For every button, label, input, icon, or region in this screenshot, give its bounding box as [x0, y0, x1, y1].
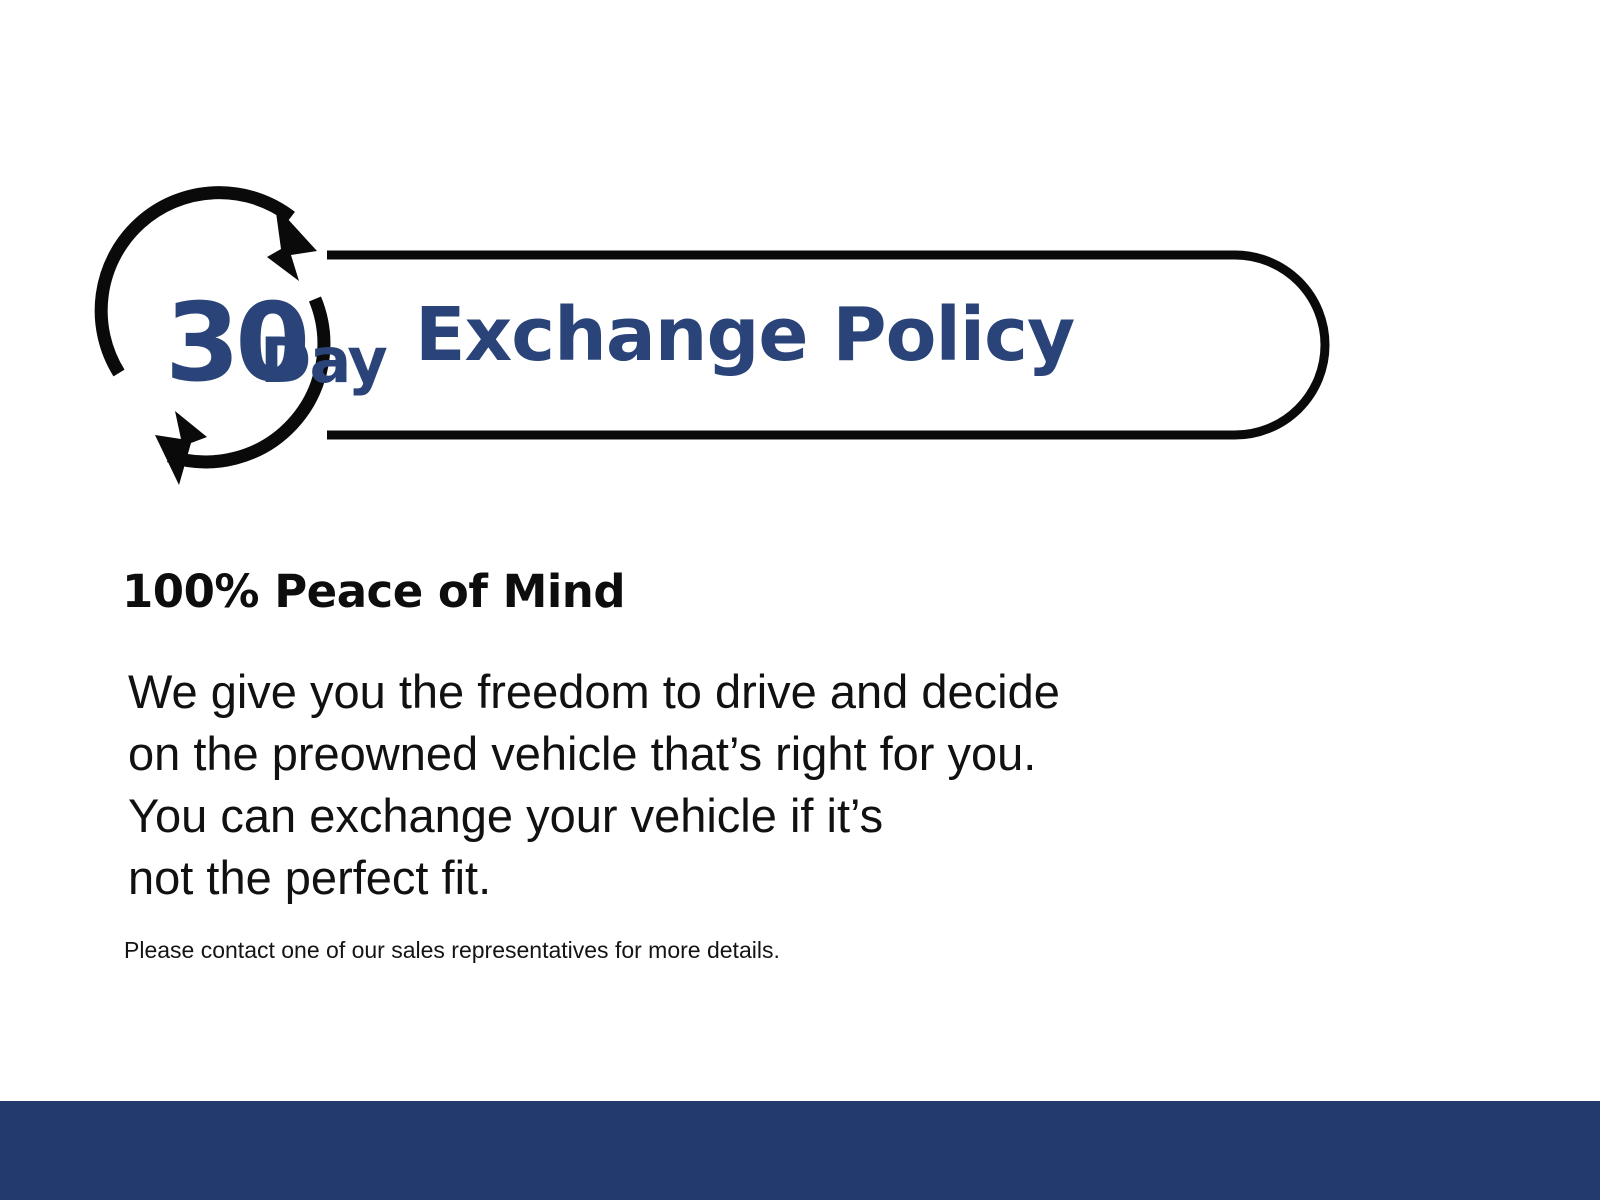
exchange-policy-badge: 30 Day Exchange Policy — [95, 195, 1305, 495]
body-paragraph: We give you the freedom to drive and dec… — [128, 661, 1422, 909]
badge-title: Exchange Policy — [415, 293, 1074, 377]
paragraph-line: not the perfect fit. — [128, 847, 1422, 909]
slide-canvas: 30 Day Exchange Policy 100% Peace of Min… — [0, 0, 1600, 1200]
content-block: 100% Peace of Mind We give you the freed… — [122, 565, 1422, 965]
paragraph-line: We give you the freedom to drive and dec… — [128, 661, 1422, 723]
footer-band — [0, 1101, 1600, 1200]
headline: 100% Peace of Mind — [122, 565, 1422, 619]
fineprint-disclaimer: Please contact one of our sales represen… — [124, 935, 1422, 965]
paragraph-line: on the preowned vehicle that’s right for… — [128, 723, 1422, 785]
paragraph-line: You can exchange your vehicle if it’s — [128, 785, 1422, 847]
circle-fill-mask — [109, 227, 345, 463]
